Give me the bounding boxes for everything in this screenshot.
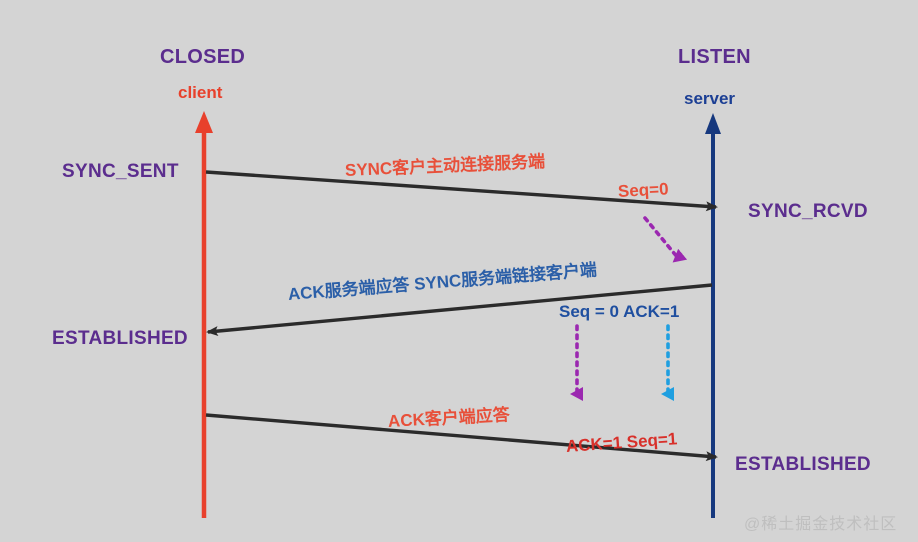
watermark: @稀土掘金技术社区: [744, 510, 897, 534]
tcp-handshake-diagram: CLOSED client LISTEN server SYNC_SENT SY…: [0, 0, 918, 542]
state-label-client-sync-sent: SYNC_SENT: [62, 162, 179, 181]
state-label-client-established: ESTABLISHED: [52, 329, 188, 348]
state-label-server-sync-rcvd: SYNC_RCVD: [748, 202, 868, 221]
lifeline-label-client: client: [178, 84, 222, 101]
state-label-client-closed: CLOSED: [160, 47, 245, 67]
message-flags-2: Seq = 0 ACK=1: [559, 303, 679, 320]
client-lifeline-arrowhead-icon: [195, 111, 213, 133]
lifeline-label-server: server: [684, 90, 735, 107]
message-flags-1: Seq=0: [618, 180, 669, 200]
sync-rcvd-transition-arrow: [645, 218, 678, 258]
server-lifeline-arrowhead-icon: [705, 113, 721, 134]
state-label-server-listen: LISTEN: [678, 47, 751, 67]
state-label-server-established: ESTABLISHED: [735, 455, 871, 474]
